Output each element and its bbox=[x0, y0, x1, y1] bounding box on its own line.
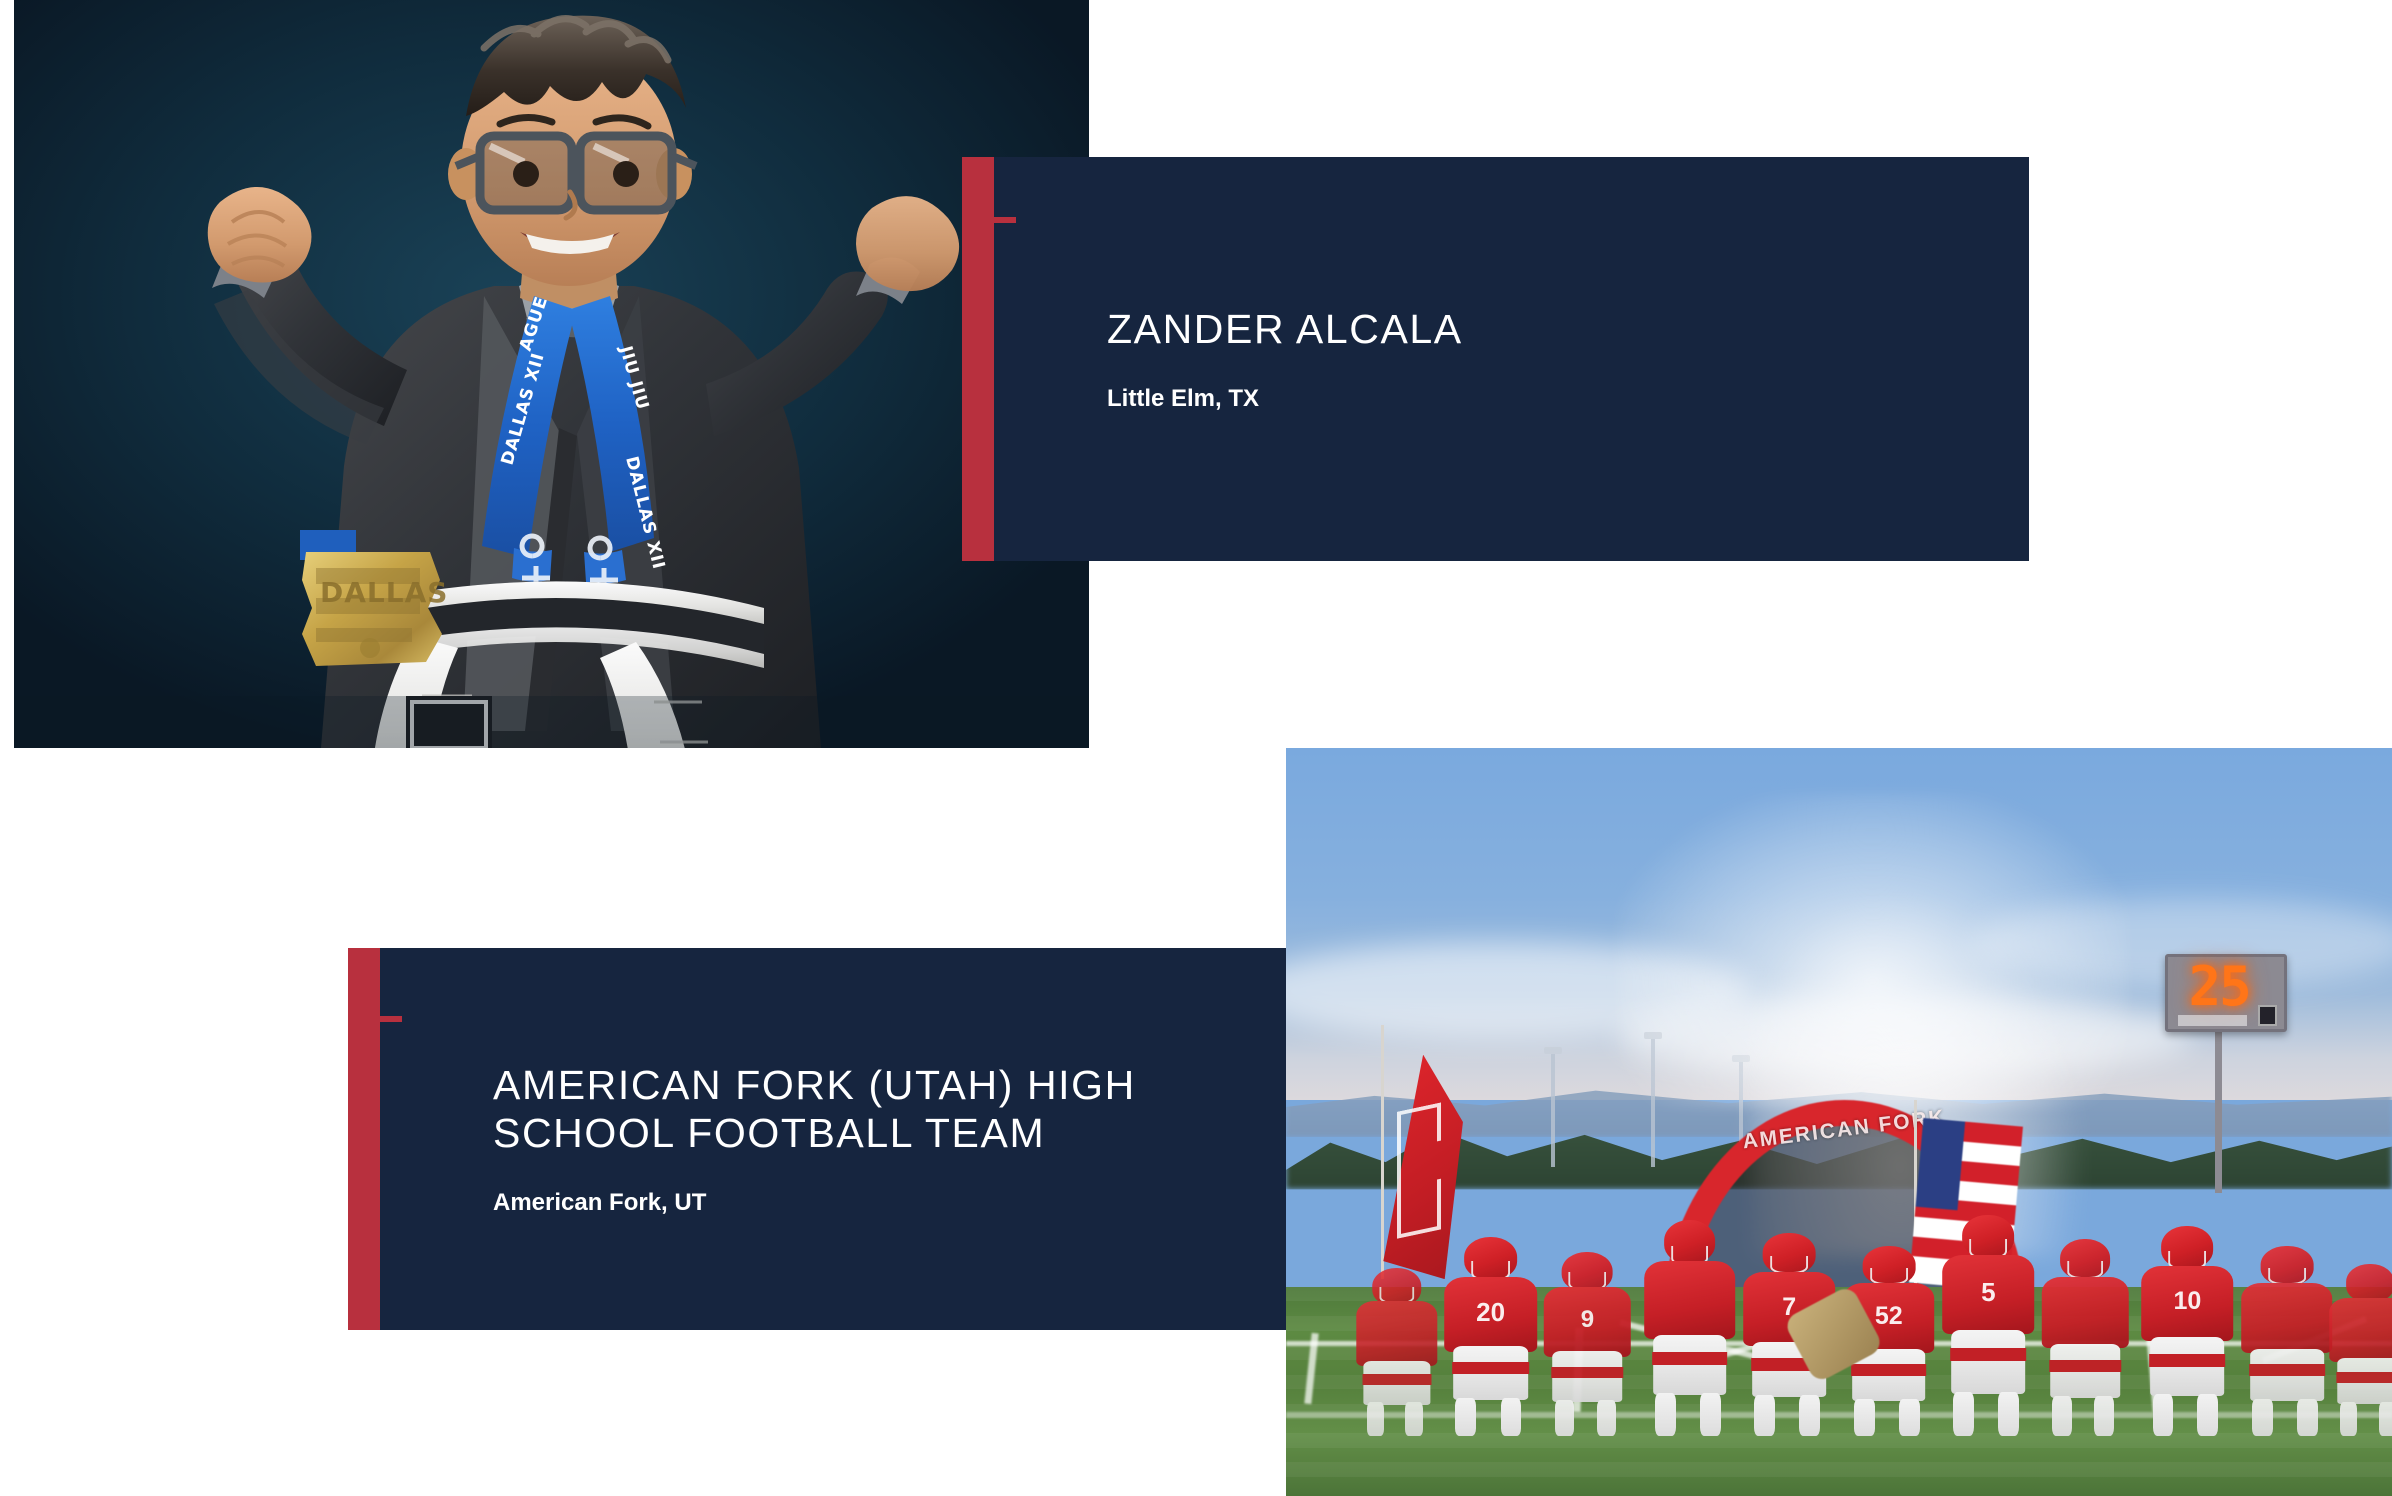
team-card[interactable]: AMERICAN FORK (UTAH) HIGH SCHOOL FOOTBAL… bbox=[348, 948, 1424, 1330]
card-content: ZANDER ALCALA Little Elm, TX bbox=[994, 157, 2029, 561]
stadium-light-pole bbox=[1551, 1047, 1555, 1167]
card-content: AMERICAN FORK (UTAH) HIGH SCHOOL FOOTBAL… bbox=[380, 948, 1424, 1330]
card-accent-bar bbox=[348, 948, 380, 1330]
team-photo: 25 AMERICAN FORK bbox=[1286, 748, 2392, 1496]
athlete-name: ZANDER ALCALA bbox=[1107, 305, 2029, 353]
card-accent-bar bbox=[962, 157, 994, 561]
player: 5 bbox=[1939, 1215, 2039, 1436]
play-clock: 25 bbox=[2165, 954, 2287, 1033]
athlete-location: Little Elm, TX bbox=[1107, 385, 2029, 413]
accent-tick-mark bbox=[994, 217, 1016, 223]
player bbox=[2237, 1242, 2337, 1436]
player: 9 bbox=[1540, 1248, 1634, 1436]
player: 20 bbox=[1441, 1237, 1541, 1436]
athlete-card[interactable]: ZANDER ALCALA Little Elm, TX bbox=[962, 157, 2029, 561]
page-canvas: DALLAS XII DALLAS XII AGUE JIU JIU bbox=[0, 0, 2392, 1496]
sky-haze bbox=[1618, 793, 2127, 1107]
athlete-photo: DALLAS XII DALLAS XII AGUE JIU JIU bbox=[14, 0, 1089, 748]
player bbox=[1640, 1220, 1740, 1436]
accent-tick-mark bbox=[380, 1016, 402, 1022]
team-name: AMERICAN FORK (UTAH) HIGH SCHOOL FOOTBAL… bbox=[493, 1061, 1193, 1158]
team-location: American Fork, UT bbox=[493, 1189, 1364, 1217]
svg-text:DALLAS: DALLAS bbox=[320, 576, 448, 609]
play-clock-label bbox=[2178, 1015, 2247, 1027]
player bbox=[1352, 1265, 1440, 1437]
jiujitsu-boy-illustration: DALLAS XII DALLAS XII AGUE JIU JIU bbox=[14, 0, 1089, 748]
football-players: 20 9 bbox=[1286, 1159, 2392, 1436]
play-clock-digits: 25 bbox=[2175, 961, 2263, 1012]
player bbox=[2326, 1259, 2392, 1436]
play-clock-indicator bbox=[2258, 1005, 2277, 1027]
player: 10 bbox=[2138, 1226, 2238, 1436]
player bbox=[2038, 1237, 2132, 1436]
